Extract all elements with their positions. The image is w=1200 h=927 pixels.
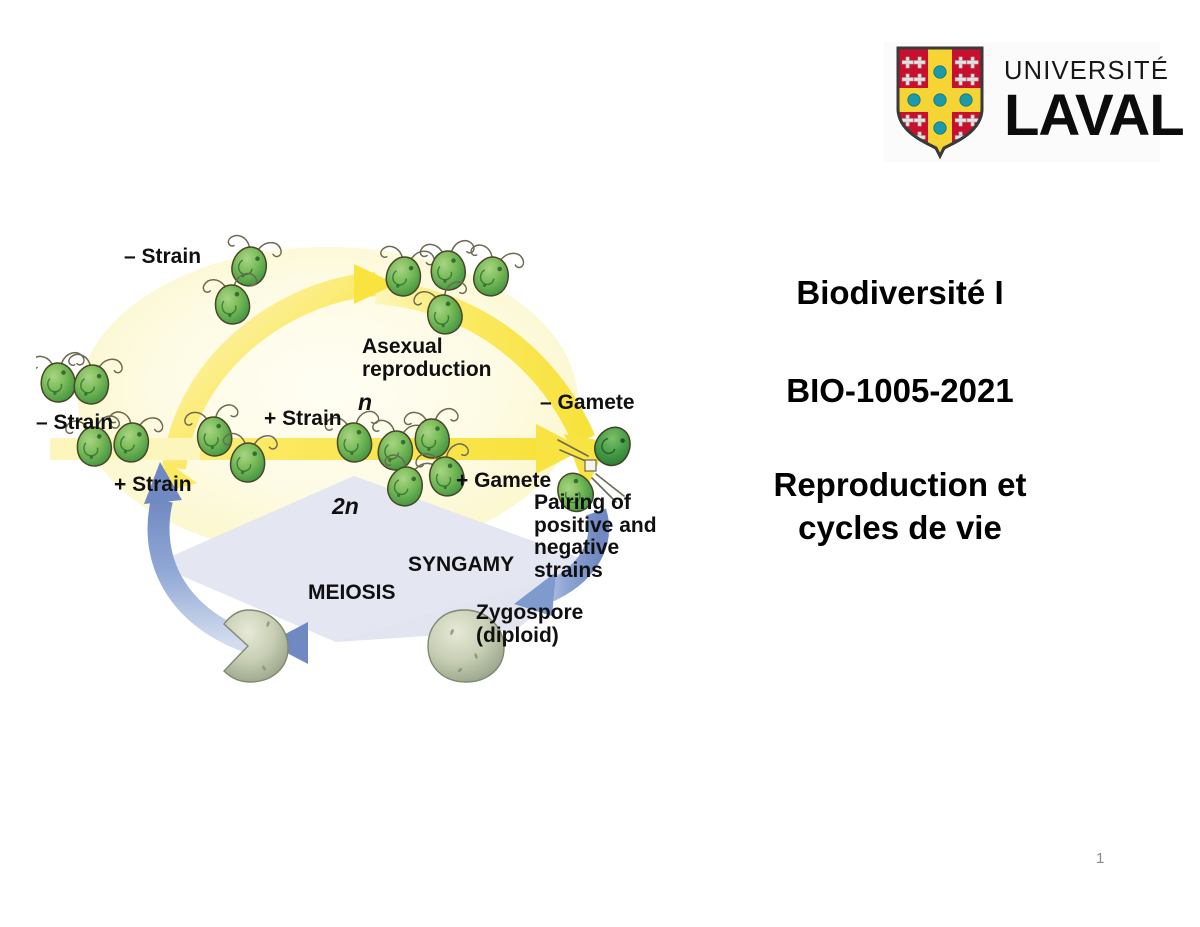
- label-minus-gamete: – Gamete: [540, 392, 635, 415]
- chlamydomonas-life-cycle-diagram: – Strain – Strain + Strain + Strain Asex…: [36, 212, 686, 702]
- laval-shield-icon: [894, 44, 986, 160]
- label-plus-strain-left: + Strain: [114, 474, 192, 497]
- course-code-line: BIO-1005-2021: [690, 370, 1110, 412]
- lecture-subject-line-1: Reproduction et: [690, 464, 1110, 506]
- logo-wordmark: UNIVERSITÉ LAVAL: [1004, 59, 1184, 145]
- lecture-subject-line-2: cycles de vie: [690, 507, 1110, 549]
- label-haploid-n: n: [358, 390, 372, 415]
- label-minus-strain-left: – Strain: [36, 412, 113, 435]
- logo-universite-text: UNIVERSITÉ: [1004, 59, 1184, 85]
- label-asexual-reproduction: Asexual reproduction: [362, 336, 492, 381]
- title-spacer-2: [690, 412, 1110, 464]
- slide-page-number: 1: [1096, 850, 1104, 867]
- logo-laval-text: LAVAL: [1004, 87, 1184, 145]
- label-syngamy: SYNGAMY: [408, 554, 514, 577]
- label-diploid-2n: 2n: [332, 494, 359, 519]
- label-meiosis: MEIOSIS: [308, 582, 396, 605]
- label-pairing-note: Pairing of positive and negative strains: [534, 492, 657, 583]
- course-title-line: Biodiversité I: [690, 272, 1110, 314]
- slide-title-block: Biodiversité I BIO-1005-2021 Reproductio…: [690, 272, 1110, 549]
- universite-laval-logo: UNIVERSITÉ LAVAL: [884, 42, 1160, 162]
- label-plus-strain-mid: + Strain: [264, 408, 342, 431]
- title-spacer: [690, 314, 1110, 370]
- label-zygospore: Zygospore (diploid): [476, 602, 583, 647]
- label-minus-strain-top: – Strain: [124, 246, 201, 269]
- label-plus-gamete: + Gamete: [456, 470, 551, 493]
